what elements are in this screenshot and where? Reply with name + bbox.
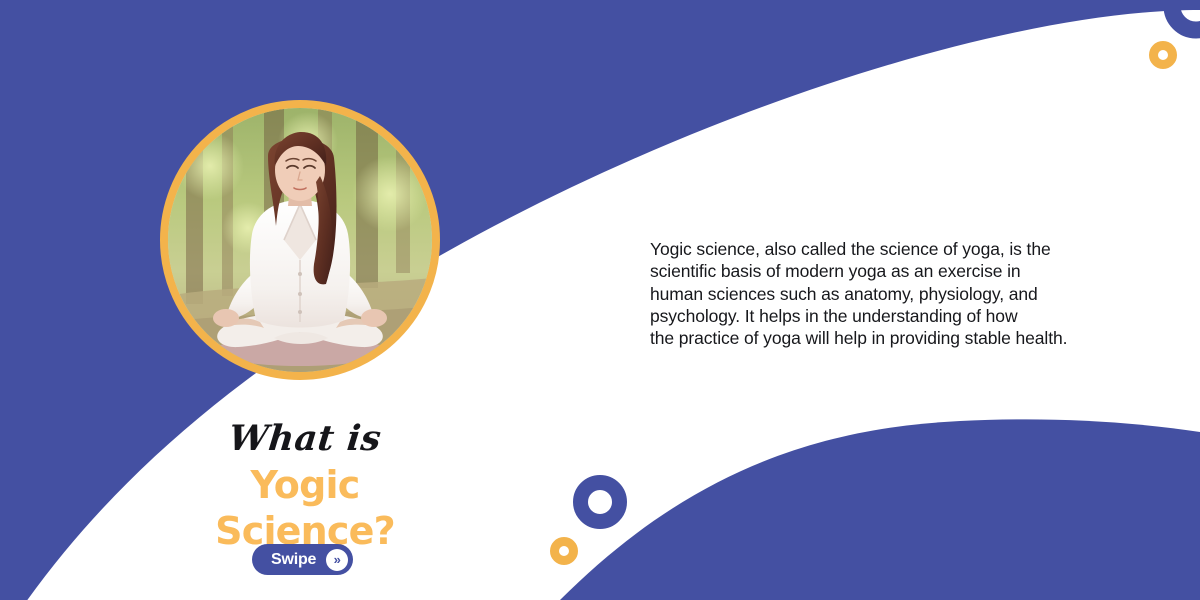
swipe-button[interactable]: Swipe »	[252, 544, 353, 575]
hero-photo-frame	[160, 100, 440, 380]
blue-blob-bottom-right	[560, 419, 1200, 600]
double-chevron-right-icon[interactable]: »	[326, 549, 348, 571]
orange-ring-top-right	[1154, 46, 1173, 65]
slide-canvas: Yogic science, also called the science o…	[0, 0, 1200, 600]
swipe-button-label: Swipe	[271, 552, 316, 568]
headline-main-line: Yogic Science?	[160, 462, 450, 554]
headline-script-line: What is	[158, 418, 452, 460]
orange-ring-center-bottom	[555, 542, 574, 561]
blue-ring-center-bottom	[581, 483, 620, 522]
hero-photo	[168, 108, 432, 372]
body-paragraph: Yogic science, also called the science o…	[650, 238, 1155, 349]
headline-block: What is Yogic Science?	[160, 418, 450, 554]
meditation-photo-illustration	[168, 108, 432, 372]
double-chevron-glyph: »	[334, 553, 341, 566]
